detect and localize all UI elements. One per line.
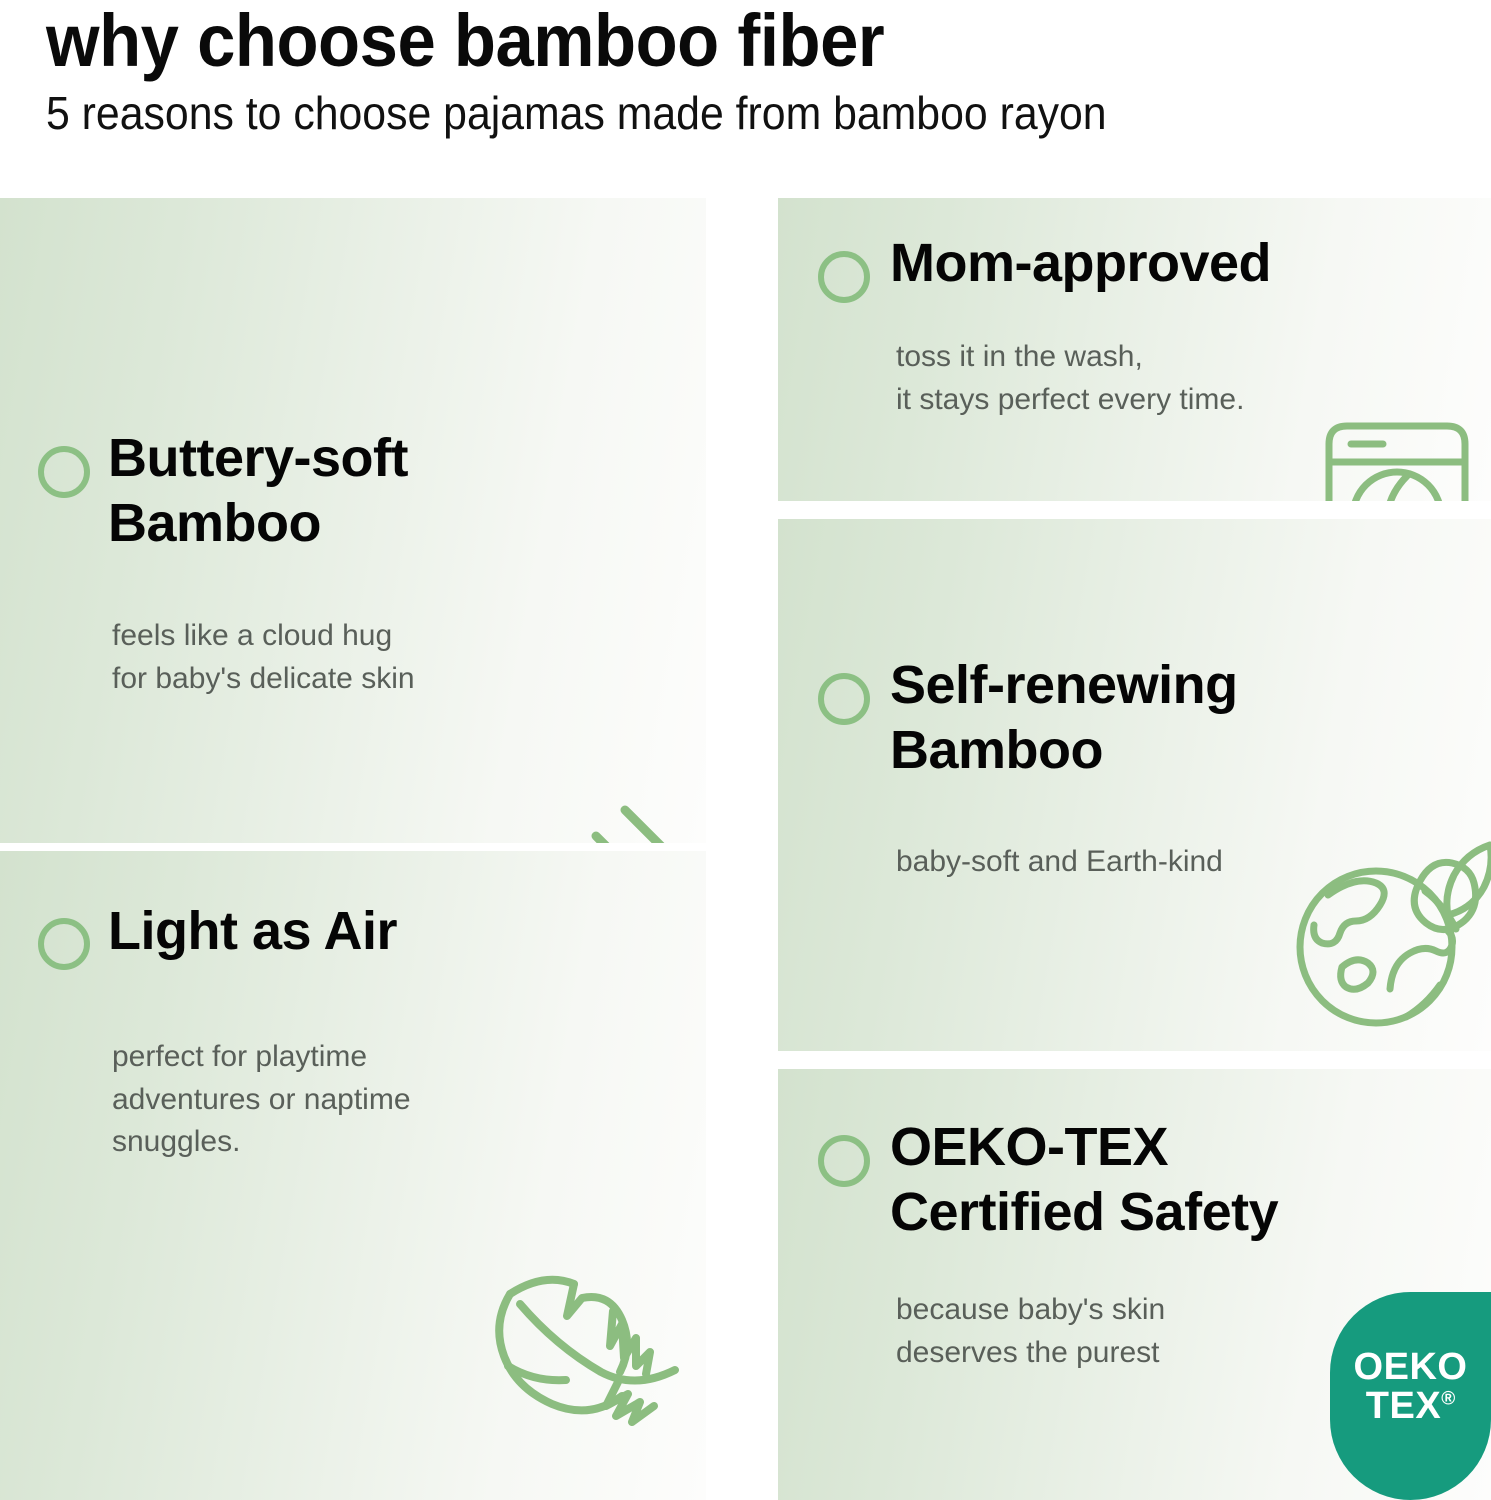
feature-description: baby-soft and Earth-kind <box>896 841 1223 884</box>
feature-title: Self-renewing Bamboo <box>890 653 1238 783</box>
feature-card-self-renewing: Self-renewing Bamboo baby-soft and Earth… <box>778 519 1491 1051</box>
feature-description: feels like a cloud hug for baby's delica… <box>112 615 415 700</box>
oeko-tex-badge: OEKO TEX® <box>1330 1292 1491 1500</box>
bullet-circle-icon <box>38 446 90 498</box>
feature-description: perfect for playtime adventures or napti… <box>112 1036 411 1164</box>
earth-leaves-icon <box>1294 839 1491 1031</box>
bullet-circle-icon <box>818 1135 870 1187</box>
infographic-page: why choose bamboo fiber 5 reasons to cho… <box>0 0 1491 1500</box>
bullet-circle-icon <box>818 251 870 303</box>
feature-card-oeko-tex: OEKO-TEX Certified Safety because baby's… <box>778 1069 1491 1500</box>
bullet-circle-icon <box>38 918 90 970</box>
feature-card-light-as-air: Light as Air perfect for playtime advent… <box>0 851 706 1500</box>
page-header: why choose bamboo fiber 5 reasons to cho… <box>0 0 1491 190</box>
feature-title: OEKO-TEX Certified Safety <box>890 1115 1278 1245</box>
feather-icon <box>470 1254 695 1444</box>
washing-machine-icon <box>1321 418 1473 501</box>
oeko-badge-line2: TEX® <box>1366 1387 1455 1426</box>
registered-mark-icon: ® <box>1441 1388 1455 1409</box>
feature-title: Mom-approved <box>890 231 1271 296</box>
hand-fabric-touch-icon <box>495 798 706 843</box>
feature-card-buttery-soft: Buttery-soft Bamboo feels like a cloud h… <box>0 198 706 843</box>
feature-title: Light as Air <box>108 899 397 964</box>
page-title: why choose bamboo fiber <box>46 4 884 78</box>
feature-title: Buttery-soft Bamboo <box>108 426 408 556</box>
oeko-badge-line1: OEKO <box>1354 1348 1468 1387</box>
feature-card-mom-approved: Mom-approved toss it in the wash, it sta… <box>778 198 1491 501</box>
feature-description: because baby's skin deserves the purest <box>896 1289 1165 1374</box>
feature-description: toss it in the wash, it stays perfect ev… <box>896 336 1244 421</box>
page-subtitle: 5 reasons to choose pajamas made from ba… <box>46 90 1107 136</box>
bullet-circle-icon <box>818 673 870 725</box>
oeko-badge-line2-text: TEX <box>1366 1385 1441 1427</box>
